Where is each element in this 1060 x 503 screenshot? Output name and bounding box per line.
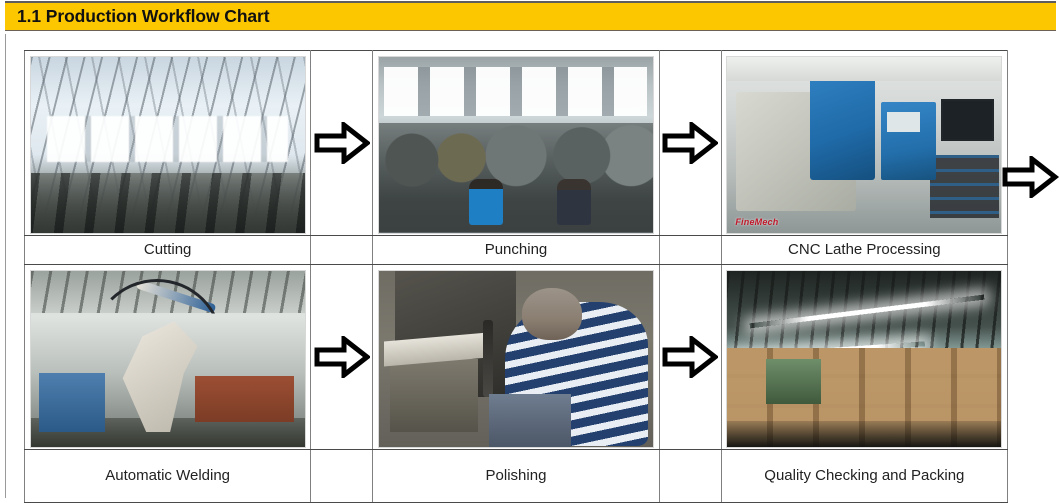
label-spacer-4 — [659, 450, 721, 503]
page-title: 1.1 Production Workflow Chart — [5, 6, 270, 27]
welding-cable — [91, 279, 223, 345]
step-cell-welding-image — [25, 265, 311, 450]
workflow-row-1-labels: Cutting Punching CNC Lathe Processing — [25, 236, 1008, 265]
step-cell-quality-image — [721, 265, 1007, 450]
worker-legs — [489, 394, 571, 447]
step-label-punching: Punching — [373, 236, 659, 265]
label-spacer-1 — [311, 236, 373, 265]
trailing-right-block-arrow-icon — [1000, 156, 1060, 203]
cnc-monitor — [941, 99, 994, 142]
workflow-sheet: FineMech Cutting Punching CNC Lathe Proc… — [0, 34, 1060, 498]
spindle — [483, 320, 493, 397]
step-cell-polishing-image — [373, 265, 659, 450]
control-cabinet — [39, 373, 105, 433]
arrow-cell-1 — [311, 51, 373, 236]
workflow-row-1-images: FineMech — [25, 51, 1008, 236]
work-bench — [195, 376, 294, 422]
ceiling-light — [750, 295, 984, 329]
photo-punching — [378, 56, 654, 234]
right-block-arrow-icon — [314, 336, 370, 378]
operator-figure — [557, 179, 591, 225]
operator-figure — [469, 179, 503, 225]
label-spacer-2 — [659, 236, 721, 265]
workflow-row-2-images — [25, 265, 1008, 450]
sheet-left-rule — [5, 34, 6, 498]
worker-head — [522, 288, 582, 340]
photo-cnc-lathe: FineMech — [726, 56, 1002, 234]
bench-pedestal — [390, 359, 478, 433]
material-rack — [930, 155, 999, 218]
step-label-cutting: Cutting — [25, 236, 311, 265]
header-banner: 1.1 Production Workflow Chart — [5, 3, 1056, 31]
right-block-arrow-icon — [662, 122, 718, 164]
step-label-cnc: CNC Lathe Processing — [721, 236, 1007, 265]
step-label-welding: Automatic Welding — [25, 450, 311, 503]
arrow-cell-3 — [311, 265, 373, 450]
pallet-stack — [766, 359, 821, 405]
workflow-row-2-labels: Automatic Welding Polishing Quality Chec… — [25, 450, 1008, 503]
label-spacer-3 — [311, 450, 373, 503]
ceiling-beam — [727, 57, 1001, 82]
machine-brand-label: FineMech — [735, 217, 778, 227]
step-label-polishing: Polishing — [373, 450, 659, 503]
right-block-arrow-icon — [662, 336, 718, 378]
workflow-table: FineMech Cutting Punching CNC Lathe Proc… — [24, 50, 1008, 503]
cnc-controller — [881, 102, 936, 179]
step-label-quality: Quality Checking and Packing — [721, 450, 1007, 503]
step-cell-cnc-image: FineMech — [721, 51, 1007, 236]
section-header: 1.1 Production Workflow Chart — [0, 0, 1060, 34]
photo-quality-checking-packing — [726, 270, 1002, 448]
step-cell-punching-image — [373, 51, 659, 236]
step-cell-cutting-image — [25, 51, 311, 236]
arrow-cell-2 — [659, 51, 721, 236]
photo-polishing — [378, 270, 654, 448]
photo-automatic-welding — [30, 270, 306, 448]
right-block-arrow-icon — [314, 122, 370, 164]
arrow-cell-4 — [659, 265, 721, 450]
photo-cutting — [30, 56, 306, 234]
